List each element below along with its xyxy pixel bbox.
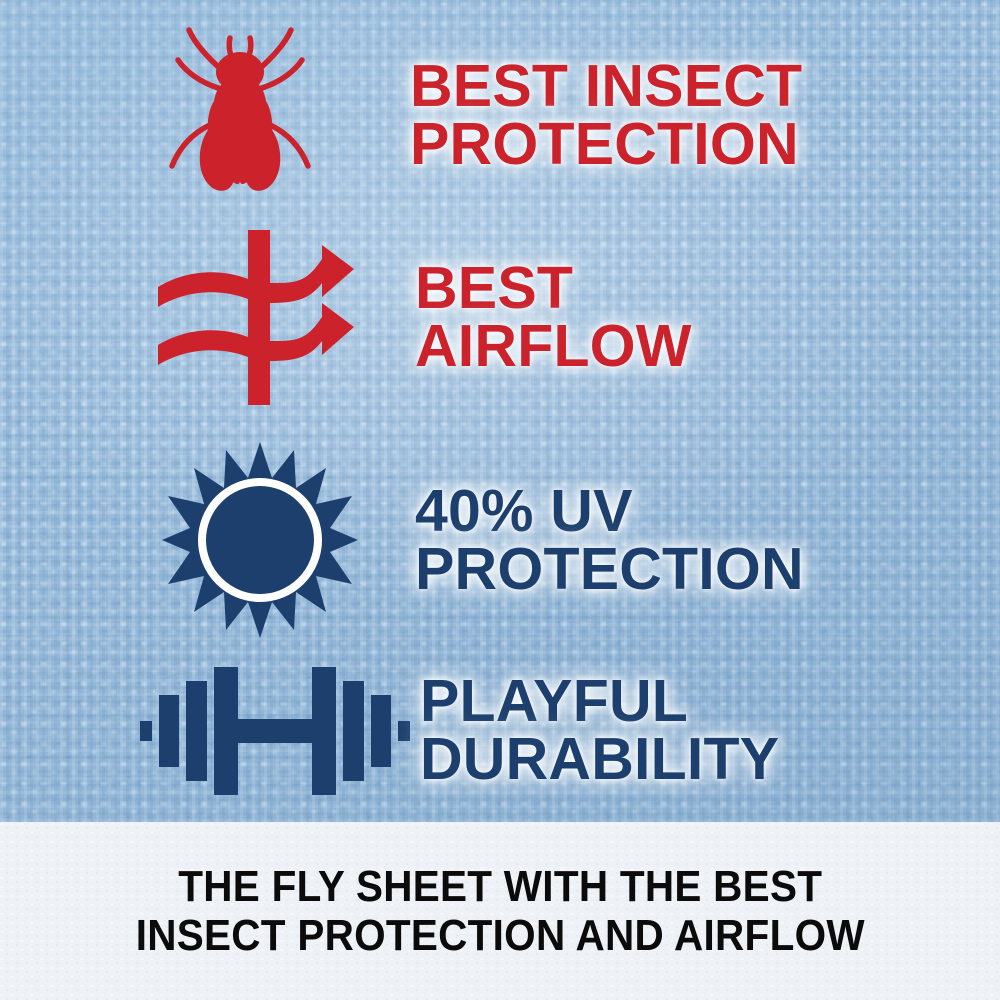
dumbbell-icon xyxy=(130,655,420,805)
feature-row-insect-protection: BEST INSECT PROTECTION xyxy=(150,20,980,210)
feature-label-uv-protection: 40% UV PROTECTION xyxy=(415,482,804,599)
feature-label-airflow: BEST AIRFLOW xyxy=(415,259,692,376)
feature-label-insect-protection: BEST INSECT PROTECTION xyxy=(410,57,802,174)
sun-icon xyxy=(150,440,370,640)
feature-row-uv-protection: 40% UV PROTECTION xyxy=(150,440,980,640)
caption-text: THE FLY SHEET WITH THE BEST INSECT PROTE… xyxy=(135,862,864,961)
feature-row-airflow: BEST AIRFLOW xyxy=(150,222,980,412)
feature-row-durability: PLAYFUL DURABILITY xyxy=(130,650,980,810)
fly-icon xyxy=(150,23,330,208)
feature-label-durability: PLAYFUL DURABILITY xyxy=(420,672,779,789)
product-feature-infographic: BEST INSECT PROTECTION BEST AIRFLO xyxy=(0,0,1000,1000)
airflow-through-barrier-icon xyxy=(150,225,365,410)
caption-bar: THE FLY SHEET WITH THE BEST INSECT PROTE… xyxy=(0,822,1000,1000)
